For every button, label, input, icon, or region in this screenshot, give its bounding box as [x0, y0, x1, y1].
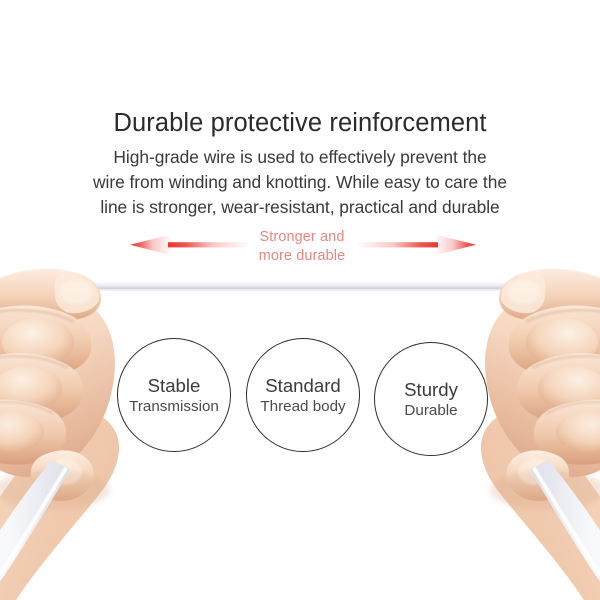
feature-subtitle: Durable — [404, 401, 457, 420]
cable-span — [62, 276, 540, 291]
description-text: High-grade wire is used to effectively p… — [18, 145, 582, 221]
feature-title: Standard — [265, 375, 340, 396]
feature-circle-standard: Standard Thread body — [246, 338, 360, 452]
feature-subtitle: Transmission — [129, 397, 219, 416]
description-line-2: wire from winding and knotting. While ea… — [18, 170, 582, 195]
feature-circle-stable: Stable Transmission — [117, 338, 231, 452]
page-title: Durable protective reinforcement — [0, 108, 600, 138]
description-line-3: line is stronger, wear-resistant, practi… — [18, 195, 582, 220]
feature-circle-sturdy: Sturdy Durable — [374, 342, 488, 456]
feature-title: Sturdy — [404, 379, 458, 400]
arrow-right-icon — [356, 228, 478, 262]
feature-circles: Stable Transmission Standard Thread body… — [0, 330, 600, 460]
feature-title: Stable — [148, 375, 201, 396]
description-line-1: High-grade wire is used to effectively p… — [18, 145, 582, 170]
product-feature-image: Durable protective reinforcement High-gr… — [0, 0, 600, 600]
feature-subtitle: Thread body — [260, 397, 345, 416]
stretch-caption-line-1: Stronger and — [232, 228, 372, 247]
